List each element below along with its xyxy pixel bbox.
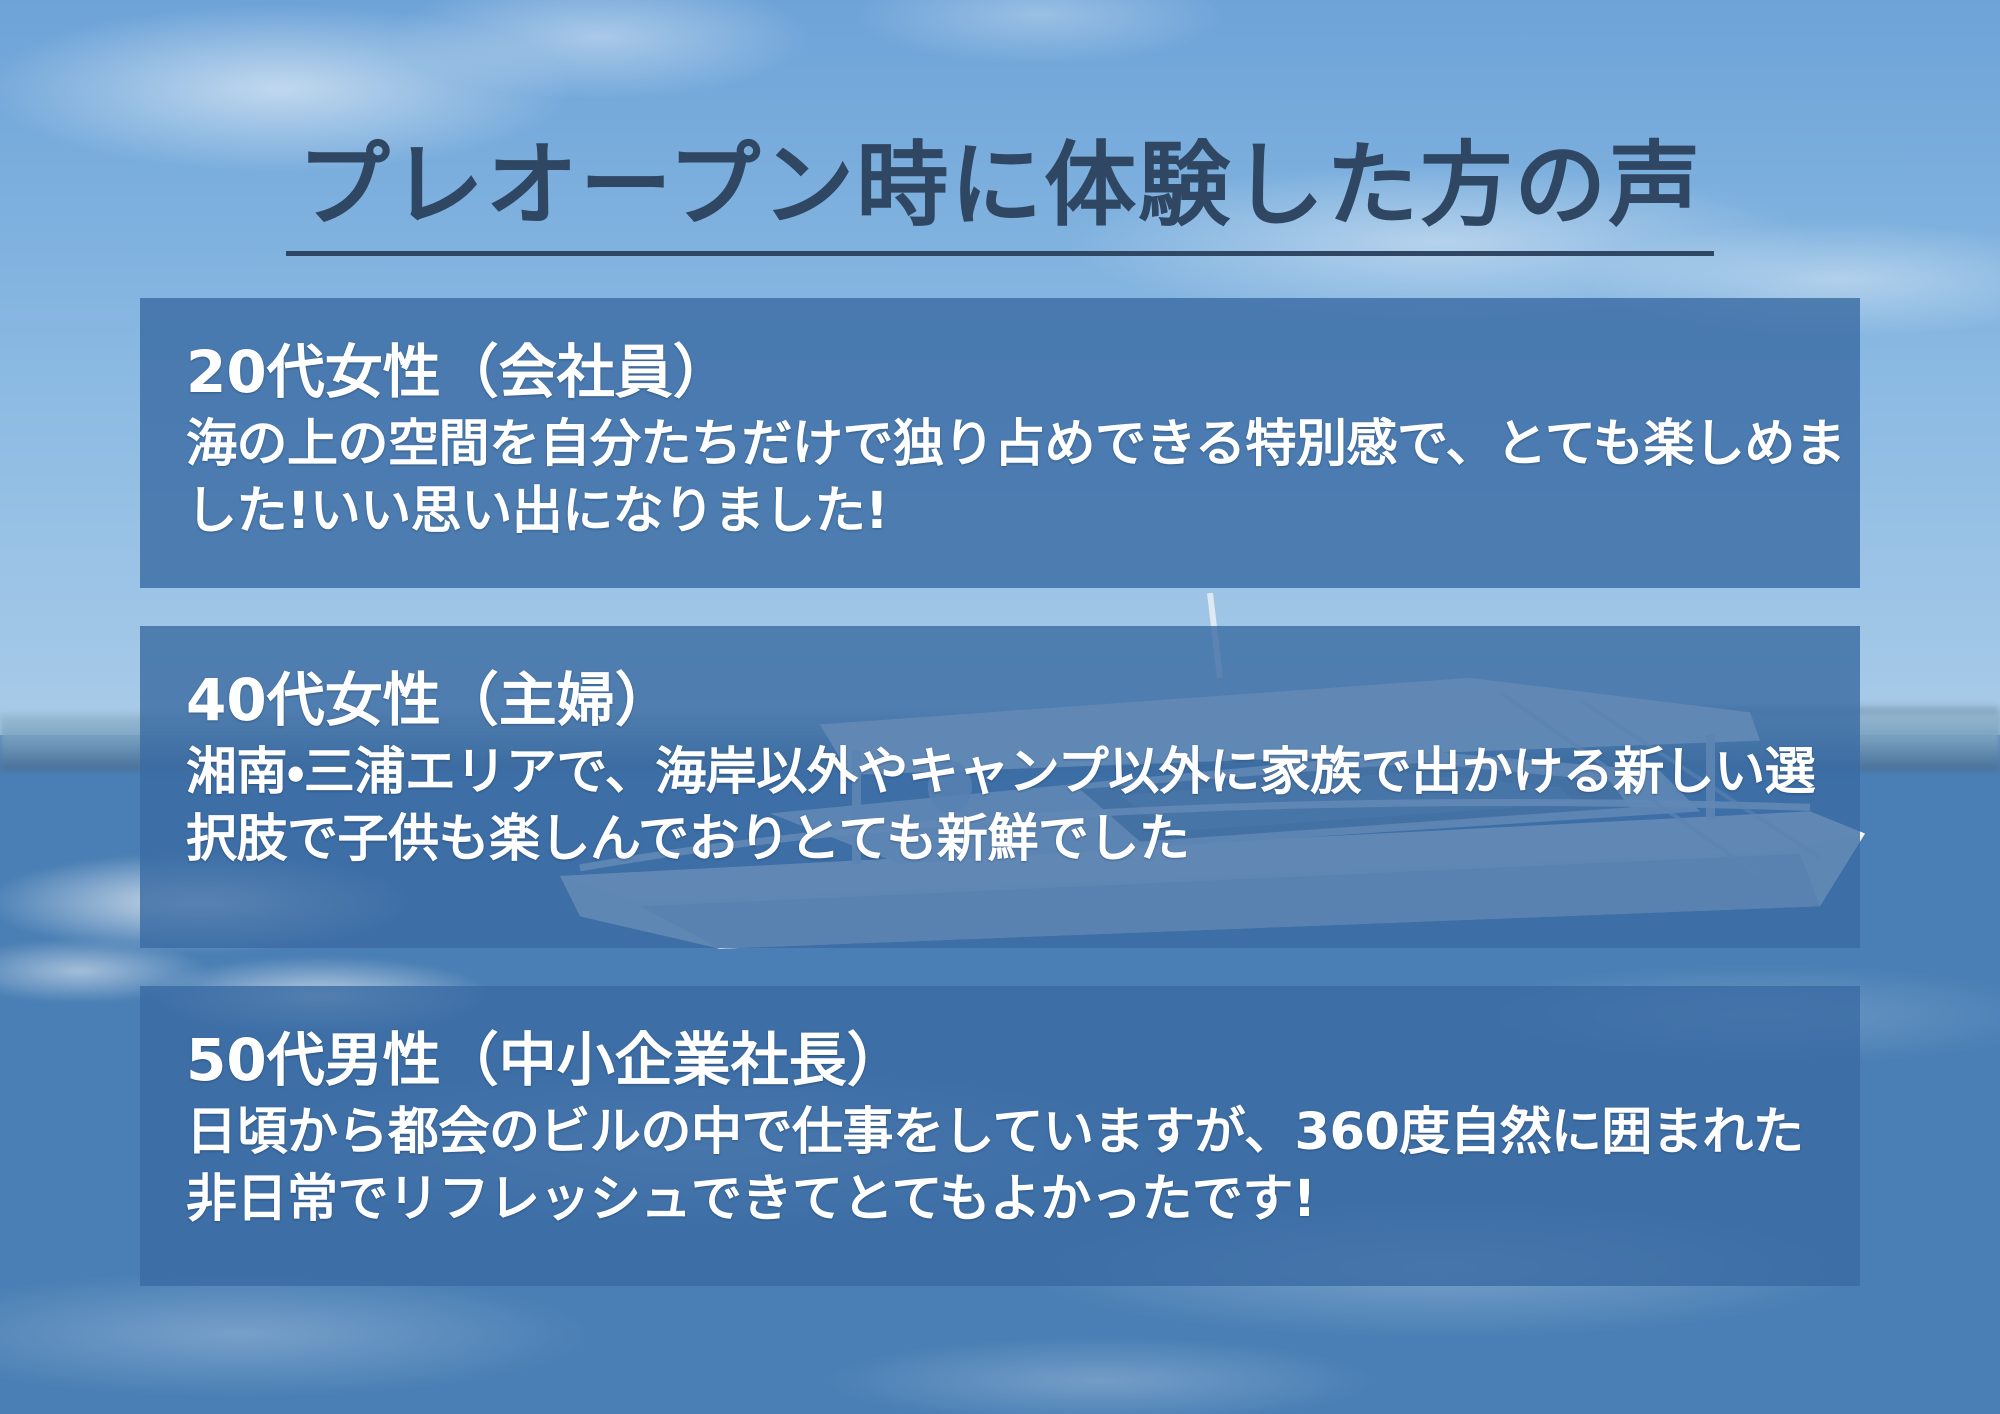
- testimonial-card-3: 50代男性（中小企業社長） 日頃から都会のビルの中で仕事をしていますが、360度…: [140, 986, 1860, 1286]
- slide-content: プレオープン時に体験した方の声 20代女性（会社員） 海の上の空間を自分たちだけ…: [0, 0, 2000, 1414]
- page-title-wrapper: プレオープン時に体験した方の声: [0, 74, 2000, 318]
- testimonial-line: 海の上の空間を自分たちだけで独り占めできる特別感で、とても楽しめま: [186, 412, 1814, 478]
- testimonial-body: 湘南・三浦エリアで、海岸以外やキャンプ以外に家族で出かける新しい選 択肢で子供も…: [186, 740, 1814, 873]
- testimonial-heading: 50代男性（中小企業社長）: [186, 1026, 1814, 1094]
- testimonial-line: 非日常でリフレッシュできてとてもよかったです!: [186, 1167, 1814, 1233]
- testimonial-body: 日頃から都会のビルの中で仕事をしていますが、360度自然に囲まれた 非日常でリフ…: [186, 1100, 1814, 1233]
- testimonial-line: 日頃から都会のビルの中で仕事をしていますが、360度自然に囲まれた: [186, 1100, 1814, 1166]
- testimonial-body: 海の上の空間を自分たちだけで独り占めできる特別感で、とても楽しめま した!いい思…: [186, 412, 1814, 545]
- testimonial-card-2: 40代女性（主婦） 湘南・三浦エリアで、海岸以外やキャンプ以外に家族で出かける新…: [140, 626, 1860, 948]
- testimonial-list: 20代女性（会社員） 海の上の空間を自分たちだけで独り占めできる特別感で、とても…: [140, 298, 1860, 1286]
- testimonial-heading: 20代女性（会社員）: [186, 338, 1814, 406]
- testimonial-line: 択肢で子供も楽しんでおりとても新鮮でした: [186, 807, 1814, 873]
- testimonial-heading: 40代女性（主婦）: [186, 666, 1814, 734]
- testimonial-line: 湘南・三浦エリアで、海岸以外やキャンプ以外に家族で出かける新しい選: [186, 740, 1814, 806]
- testimonial-line: した!いい思い出になりました!: [186, 479, 1814, 545]
- testimonial-slide: プレオープン時に体験した方の声 20代女性（会社員） 海の上の空間を自分たちだけ…: [0, 0, 2000, 1414]
- page-title: プレオープン時に体験した方の声: [286, 136, 1714, 256]
- testimonial-card-1: 20代女性（会社員） 海の上の空間を自分たちだけで独り占めできる特別感で、とても…: [140, 298, 1860, 588]
